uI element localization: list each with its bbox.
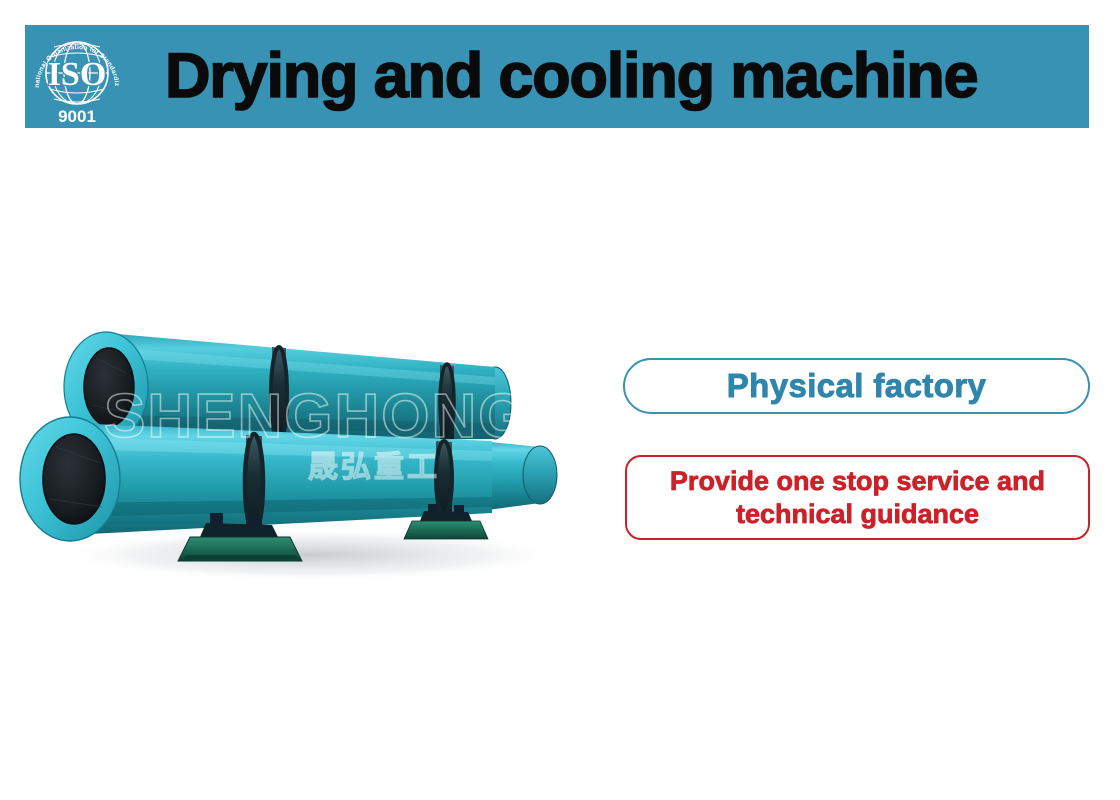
one-stop-service-line2: technical guidance — [736, 499, 979, 529]
header-bar: ISO International Organization for Stand… — [25, 25, 1089, 128]
machine-illustration: SHENGHONG 晟弘重工 — [10, 255, 610, 605]
one-stop-service-line1: Provide one stop service and — [670, 466, 1045, 496]
page-title: Drying and cooling machine — [129, 25, 1089, 128]
physical-factory-callout[interactable]: Physical factory — [623, 358, 1090, 414]
iso-acronym: ISO — [48, 56, 107, 93]
iso-standard-number: 9001 — [58, 107, 96, 126]
one-stop-service-label: Provide one stop service and technical g… — [670, 465, 1045, 531]
drying-cooling-machine-photo: SHENGHONG 晟弘重工 — [10, 255, 610, 605]
iso-9001-logo: ISO International Organization for Stand… — [25, 25, 129, 128]
watermark-chinese: 晟弘重工 — [308, 451, 440, 484]
physical-factory-label: Physical factory — [727, 367, 987, 405]
watermark-latin: SHENGHONG — [104, 382, 528, 451]
one-stop-service-callout[interactable]: Provide one stop service and technical g… — [625, 455, 1090, 540]
iso-logo-graphic: ISO International Organization for Stand… — [25, 25, 129, 128]
